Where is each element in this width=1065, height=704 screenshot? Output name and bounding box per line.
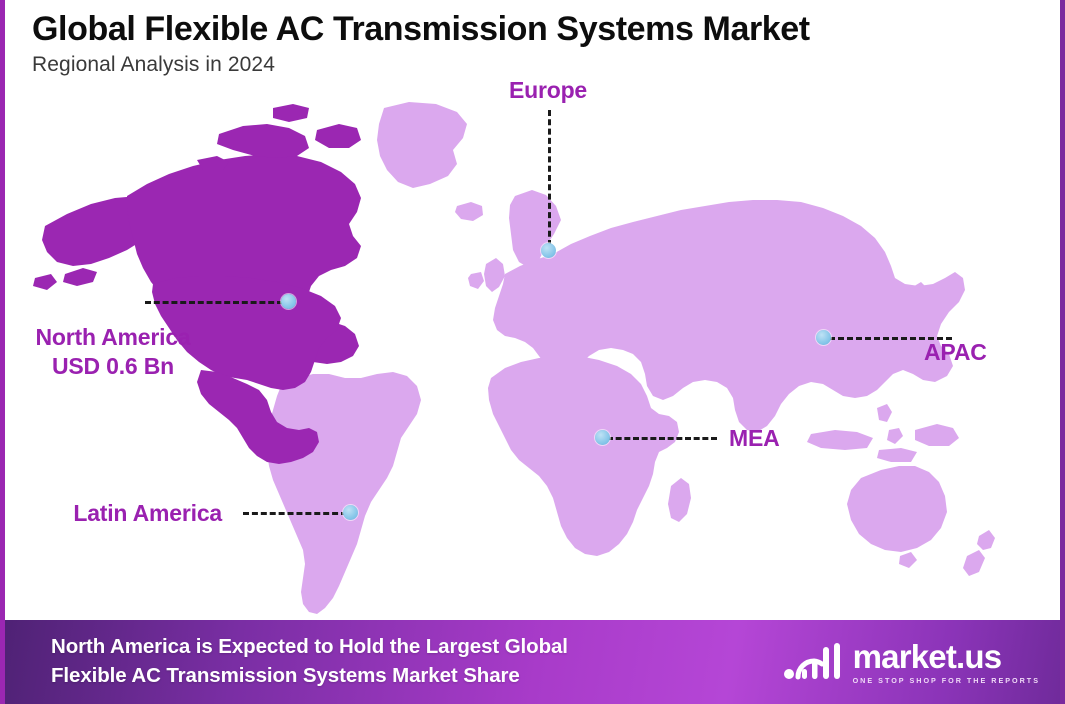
- market-us-logo[interactable]: market.us ONE STOP SHOP FOR THE REPORTS: [782, 639, 1040, 685]
- footer-statement-line-1: North America is Expected to Hold the La…: [51, 633, 568, 662]
- region-label-mea: MEA: [729, 424, 780, 453]
- region-label-north-america: North America USD 0.6 Bn: [13, 323, 213, 382]
- region-label-europe-name: Europe: [509, 77, 587, 103]
- marker-mea[interactable]: [595, 430, 610, 445]
- page-title: Global Flexible AC Transmission Systems …: [32, 10, 1060, 49]
- regional-analysis-infographic: Global Flexible AC Transmission Systems …: [0, 0, 1065, 704]
- region-label-latin-america-name: Latin America: [73, 500, 222, 526]
- market-us-logo-word: market.us: [853, 640, 1040, 673]
- footer-banner: North America is Expected to Hold the La…: [5, 620, 1065, 704]
- region-label-apac-name: APAC: [924, 339, 987, 365]
- marker-north-america[interactable]: [281, 294, 296, 309]
- footer-statement: North America is Expected to Hold the La…: [51, 633, 568, 690]
- market-us-logo-icon: [782, 639, 844, 685]
- footer-statement-line-2: Flexible AC Transmission Systems Market …: [51, 662, 568, 691]
- marker-latin-america[interactable]: [343, 505, 358, 520]
- region-label-mea-name: MEA: [729, 425, 780, 451]
- region-label-north-america-name: North America: [35, 324, 190, 350]
- region-label-europe: Europe: [468, 76, 628, 105]
- region-label-north-america-value: USD 0.6 Bn: [13, 352, 213, 381]
- page-subtitle: Regional Analysis in 2024: [32, 53, 1060, 77]
- marker-apac[interactable]: [816, 330, 831, 345]
- marker-europe[interactable]: [541, 243, 556, 258]
- market-us-logo-tagline: ONE STOP SHOP FOR THE REPORTS: [853, 676, 1040, 685]
- market-us-logo-text: market.us ONE STOP SHOP FOR THE REPORTS: [853, 640, 1040, 685]
- header: Global Flexible AC Transmission Systems …: [5, 0, 1060, 77]
- region-label-apac: APAC: [924, 338, 987, 367]
- region-label-latin-america: Latin America: [13, 499, 222, 528]
